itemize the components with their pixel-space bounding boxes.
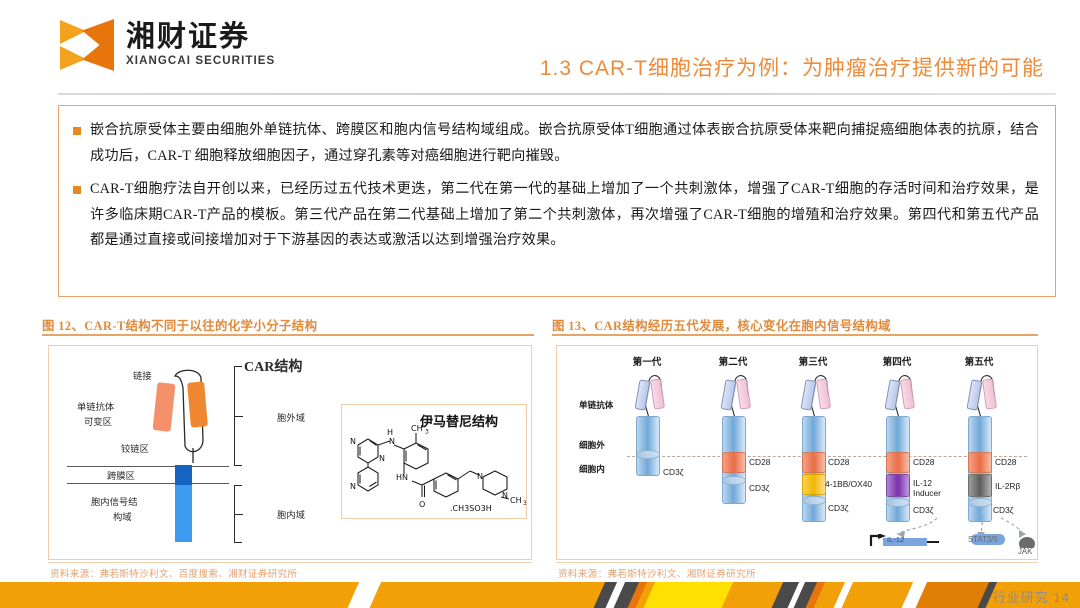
gen5-il2rb-segment xyxy=(968,474,992,497)
gen3-domain-cd3z: CD3ζ xyxy=(828,504,848,514)
membrane-line-outer xyxy=(67,466,229,467)
transmembrane-domain xyxy=(175,465,192,487)
page-title: 1.3 CAR-T细胞治疗为例：为肿瘤治疗提供新的可能 xyxy=(540,52,1044,82)
svg-text:N: N xyxy=(477,472,483,481)
gen3-segment-divider xyxy=(802,496,826,505)
gen-title-1: 第一代 xyxy=(619,354,675,368)
label-intracellular-line2: 构域 xyxy=(113,509,132,523)
header-divider xyxy=(58,93,1056,95)
car-generations-diagram: 单链抗体 细胞外 细胞内 第一代 CD3ζ 第二代 xyxy=(557,346,1037,559)
gen4-domain-il12: IL-12 Inducer xyxy=(913,479,957,498)
footer-decoration xyxy=(0,582,1080,608)
gen2-domain-cd3z: CD3ζ xyxy=(749,484,769,494)
gen3-domain-41bb: 4-1BB/OX40 xyxy=(825,480,872,490)
label-intracellular-line1: 胞内信号结 xyxy=(91,494,138,508)
gen5-cd28-segment xyxy=(968,452,992,473)
gen1-segment-divider xyxy=(636,450,660,459)
gen4-segment-divider xyxy=(886,498,910,507)
label-scfv-line1: 单链抗体 xyxy=(77,399,114,413)
imatinib-inset-frame: 伊马替尼结构 xyxy=(341,404,527,519)
gen5-domain-il2rb: IL-2Rβ xyxy=(995,482,1020,492)
svg-text:N: N xyxy=(350,437,356,446)
svg-text:N: N xyxy=(379,454,385,463)
label-hinge: 铰链区 xyxy=(121,441,149,455)
bullet-text: CAR-T细胞疗法自开创以来，已经历过五代技术更迭，第二代在第一代的基础上增加了… xyxy=(90,177,1039,255)
gen3-cd28-segment xyxy=(802,452,826,473)
svg-text:H: H xyxy=(387,428,393,437)
gen4-cd28-segment xyxy=(886,452,910,473)
svg-text:N: N xyxy=(389,437,395,446)
figure-right-source-rule xyxy=(556,562,1038,563)
gen2-domain-cd28: CD28 xyxy=(749,458,770,468)
gen4-gene-track-icon xyxy=(867,534,949,550)
figure-right-caption: 图 13、CAR结构经历五代发展，核心变化在胞内信号结构域 xyxy=(552,316,891,334)
imatinib-salt-label: .CH3SO3H xyxy=(450,504,492,513)
gen2-cd28-segment xyxy=(722,452,746,473)
gen3-41bb-segment xyxy=(802,474,826,495)
car-structure-diagram: CAR结构 链接 单链抗体 可变区 铰链区 跨膜区 胞内信号结 构域 xyxy=(49,346,531,559)
membrane-line-inner xyxy=(67,483,229,484)
figure-left-caption-rule xyxy=(42,334,534,336)
label-linker: 链接 xyxy=(133,368,152,382)
label-scfv-line2: 可变区 xyxy=(84,414,112,428)
label-transmembrane: 跨膜区 xyxy=(107,468,135,482)
slide: 湘财证券 XIANGCAI SECURITIES 1.3 CAR-T细胞治疗为例… xyxy=(0,0,1080,608)
figure-right-caption-rule xyxy=(552,334,1038,336)
ecto-bracket-icon xyxy=(234,366,235,466)
membrane-dashed-line xyxy=(627,456,1027,457)
figure-left-source: 资料来源：弗若斯特沙利文、百度搜索、湘财证券研究所 xyxy=(50,566,297,580)
figure-left-frame: CAR结构 链接 单链抗体 可变区 铰链区 跨膜区 胞内信号结 构域 xyxy=(48,345,532,560)
intracellular-domain xyxy=(175,485,192,542)
svg-text:N: N xyxy=(502,491,508,500)
gen5-downstream-jak: JAK xyxy=(1018,548,1032,557)
svg-text:3: 3 xyxy=(523,500,526,507)
side-label-intracellular: 细胞内 xyxy=(579,463,605,475)
bullet-text: 嵌合抗原受体主要由细胞外单链抗体、跨膜区和胞内信号结构域组成。嵌合抗原受体T细胞… xyxy=(90,118,1039,170)
gen5-domain-cd28: CD28 xyxy=(995,458,1016,468)
svg-text:CH: CH xyxy=(411,424,423,433)
gen4-downstream-gene: IL-12 xyxy=(887,536,904,545)
gen1-domain-cd3z: CD3ζ xyxy=(663,468,683,478)
figure-left-caption: 图 12、CAR-T结构不同于以往的化学小分子结构 xyxy=(42,316,317,334)
xiangcai-logo-icon xyxy=(60,18,116,72)
gen5-downstream-stat: STAT3/5 xyxy=(968,536,998,545)
svg-text:3: 3 xyxy=(425,429,429,436)
summary-textbox: 嵌合抗原受体主要由细胞外单链抗体、跨膜区和胞内信号结构域组成。嵌合抗原受体T细胞… xyxy=(58,105,1056,297)
gen-title-5: 第五代 xyxy=(951,354,1007,368)
bullet-item: 嵌合抗原受体主要由细胞外单链抗体、跨膜区和胞内信号结构域组成。嵌合抗原受体T细胞… xyxy=(73,118,1039,170)
page-footer-label: 行业研究 14 xyxy=(993,587,1070,606)
bullet-square-icon xyxy=(73,186,81,194)
gen3-domain-cd28: CD28 xyxy=(828,458,849,468)
bullet-square-icon xyxy=(73,127,81,135)
side-label-extracellular: 细胞外 xyxy=(579,439,605,451)
side-label-scfv: 单链抗体 xyxy=(579,399,613,411)
gen5-segment-divider xyxy=(968,498,992,507)
brand-logo: 湘财证券 XIANGCAI SECURITIES xyxy=(60,18,275,72)
gen-title-2: 第二代 xyxy=(705,354,761,368)
bullet-item: CAR-T细胞疗法自开创以来，已经历过五代技术更迭，第二代在第一代的基础上增加了… xyxy=(73,177,1039,255)
gen4-domain-cd28: CD28 xyxy=(913,458,934,468)
footer-page-number: 14 xyxy=(1054,590,1070,605)
car-structure-title: CAR结构 xyxy=(244,356,302,376)
svg-text:N: N xyxy=(350,482,356,491)
gen1-receptor-body xyxy=(636,416,660,476)
brand-name-en: XIANGCAI SECURITIES xyxy=(126,56,275,68)
gen-title-3: 第三代 xyxy=(785,354,841,368)
label-endo-domain: 胞内域 xyxy=(277,507,305,521)
gen-title-4: 第四代 xyxy=(869,354,925,368)
figure-left-source-rule xyxy=(48,562,532,563)
svg-text:HN: HN xyxy=(396,473,408,482)
figure-right-frame: 单链抗体 细胞外 细胞内 第一代 CD3ζ 第二代 xyxy=(556,345,1038,560)
gen4-il12-segment xyxy=(886,474,910,497)
figure-right-source: 资料来源：弗若斯特沙利文、湘财证券研究所 xyxy=(558,566,756,580)
imatinib-structure-icon: N N N H N CH 3 HN O N N CH 3 .CH3SO xyxy=(346,419,526,517)
brand-name-cn: 湘财证券 xyxy=(126,23,275,52)
gen2-segment-divider xyxy=(722,476,746,485)
footer-section-label: 行业研究 xyxy=(993,590,1049,605)
svg-text:O: O xyxy=(419,500,425,509)
endo-bracket-icon xyxy=(234,485,235,543)
label-ecto-domain: 胞外域 xyxy=(277,410,305,424)
svg-text:CH: CH xyxy=(510,496,522,505)
